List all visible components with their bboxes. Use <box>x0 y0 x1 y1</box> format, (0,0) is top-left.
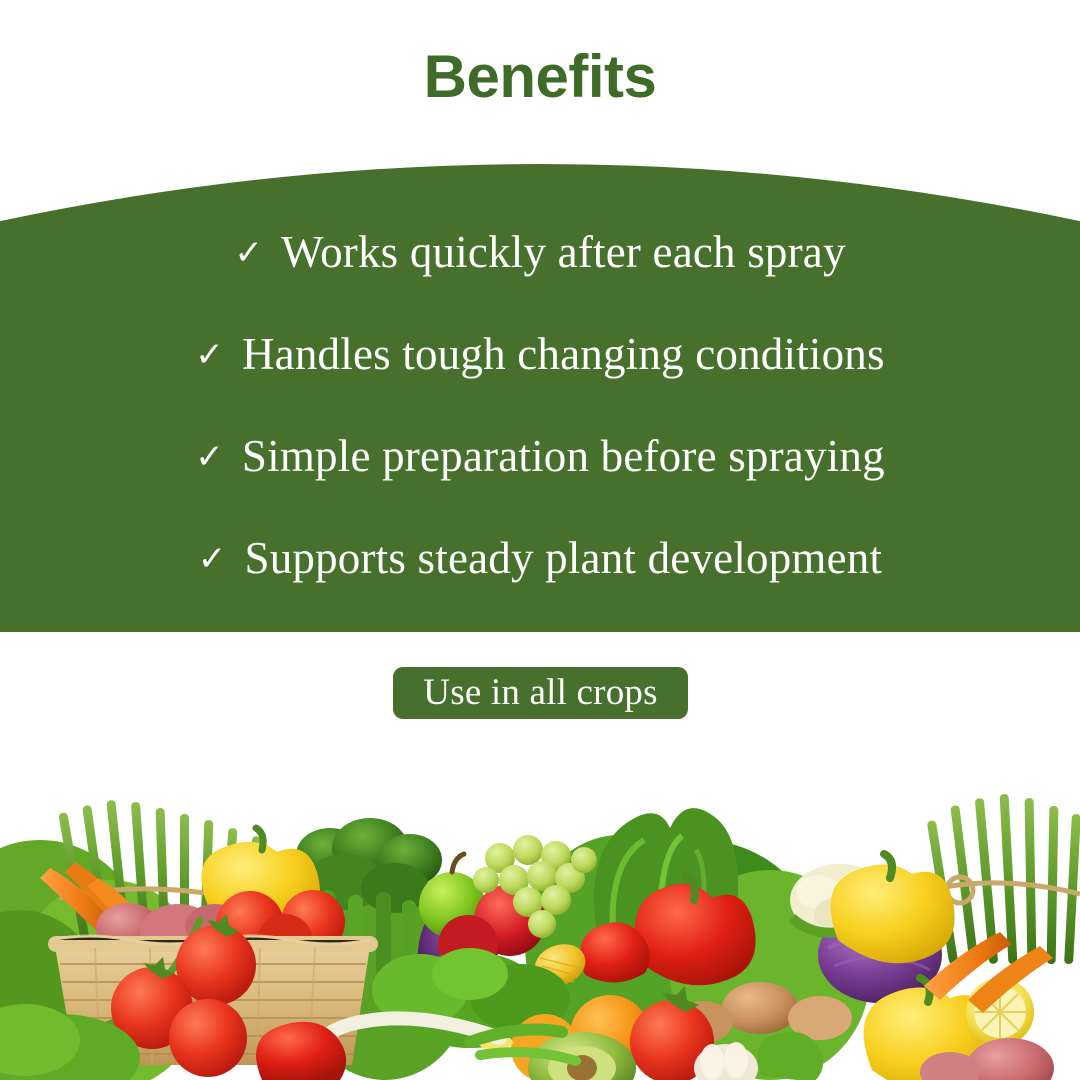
benefit-item: ✓Supports steady plant development <box>0 532 1080 585</box>
benefit-item-label: Works quickly after each spray <box>281 226 846 278</box>
check-icon: ✓ <box>198 533 227 585</box>
produce-photo-illustration <box>0 750 1080 1080</box>
benefits-poster: Benefits ✓Works quickly after each spray… <box>0 0 1080 1080</box>
badge-label: Use in all crops <box>423 673 657 713</box>
benefits-list: ✓Works quickly after each spray ✓Handles… <box>0 140 1080 632</box>
use-in-all-crops-badge: Use in all crops <box>393 667 688 719</box>
check-icon: ✓ <box>195 431 224 483</box>
benefit-item-label: Simple preparation before spraying <box>242 430 885 482</box>
check-icon: ✓ <box>234 227 263 279</box>
benefit-item: ✓Handles tough changing conditions <box>0 328 1080 381</box>
page-title: Benefits <box>0 44 1080 110</box>
benefit-item: ✓Simple preparation before spraying <box>0 430 1080 483</box>
benefit-item-label: Supports steady plant development <box>244 532 882 584</box>
benefits-panel: ✓Works quickly after each spray ✓Handles… <box>0 140 1080 632</box>
title-area: Benefits <box>0 44 1080 110</box>
produce-photo <box>0 750 1080 1080</box>
benefit-item-label: Handles tough changing conditions <box>242 328 885 380</box>
benefit-item: ✓Works quickly after each spray <box>0 226 1080 279</box>
check-icon: ✓ <box>195 329 224 381</box>
